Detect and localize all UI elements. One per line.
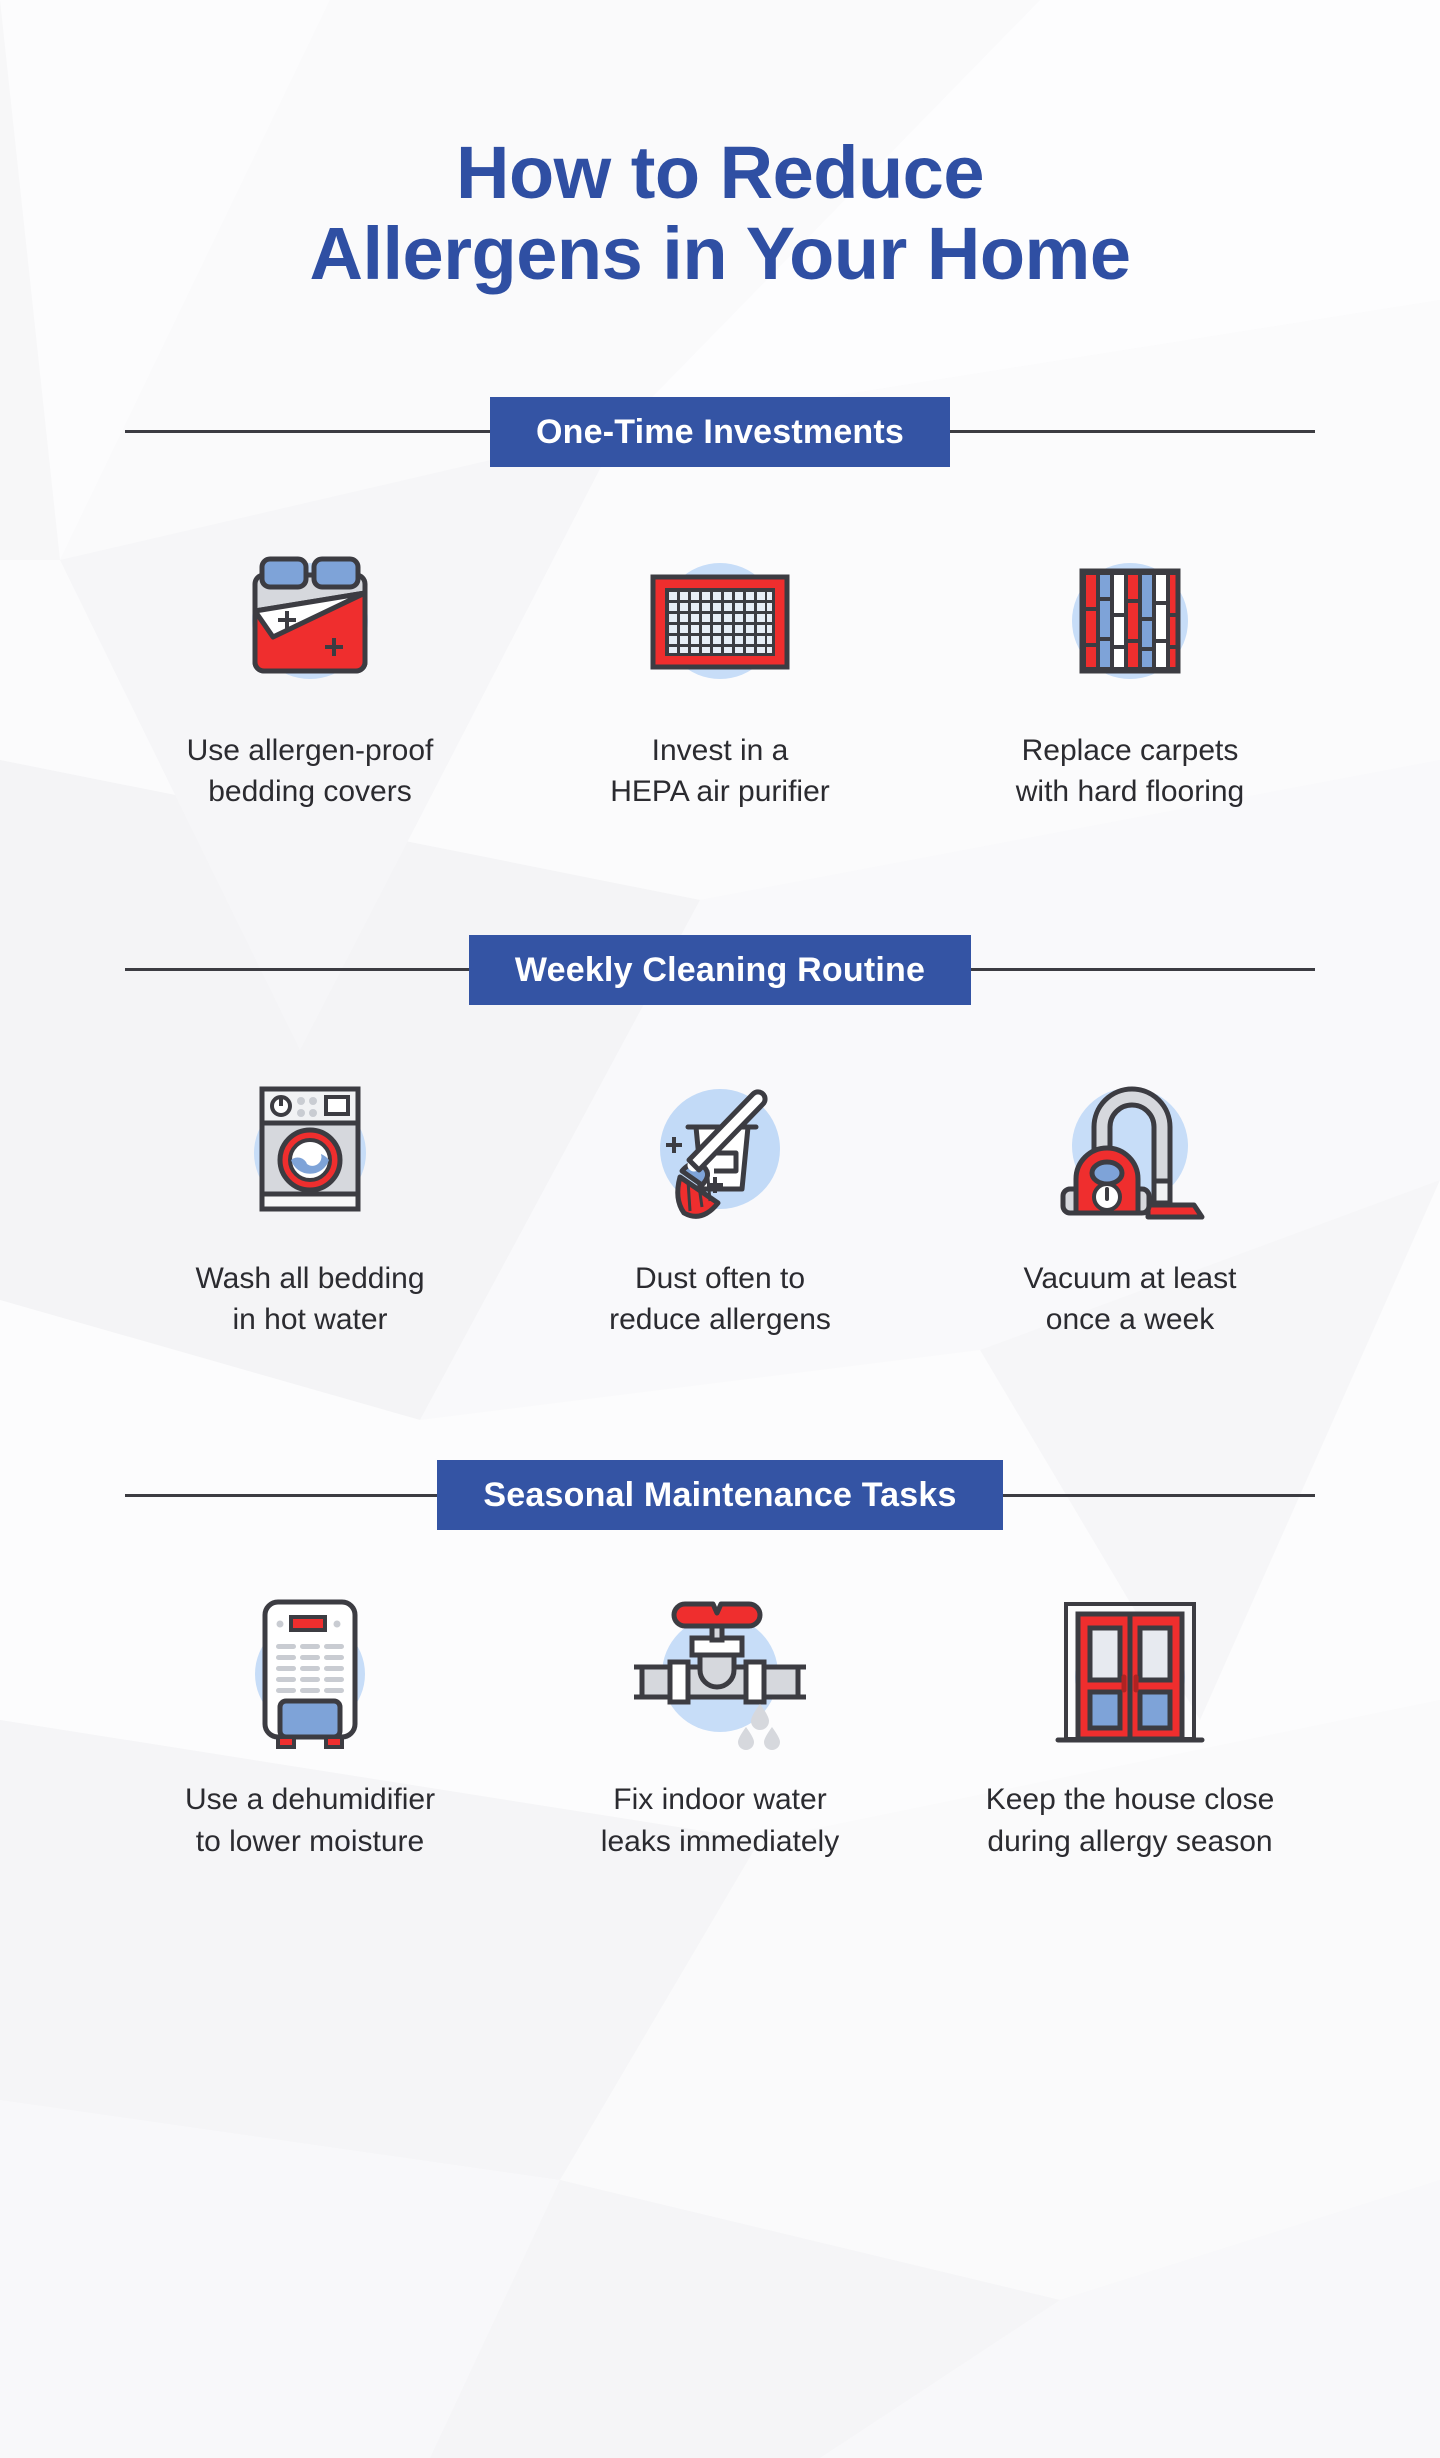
section-2-items: Wash all bedding in hot water	[105, 1061, 1335, 1341]
item-card[interactable]: Dust often to reduce allergens	[515, 1061, 925, 1341]
item-caption: Invest in a HEPA air purifier	[610, 730, 830, 813]
section-banner-label: One-Time Investments	[490, 397, 950, 467]
section-header-one-time-investments: One-Time Investments	[125, 393, 1315, 471]
divider-line-right	[950, 430, 1315, 433]
section-3-items: Use a dehumidifier to lower moisture	[105, 1582, 1335, 1862]
divider-line-right	[971, 968, 1315, 971]
item-card[interactable]: Keep the house close during allergy seas…	[925, 1582, 1335, 1862]
page-title: How to Reduce Allergens in Your Home	[0, 0, 1440, 295]
item-card[interactable]: Vacuum at least once a week	[925, 1061, 1335, 1341]
item-card[interactable]: Use allergen-proof bedding covers	[105, 533, 515, 813]
page-title-line-2: Allergens in Your Home	[0, 213, 1440, 294]
divider-line-left	[125, 1494, 437, 1497]
item-card[interactable]: Wash all bedding in hot water	[105, 1061, 515, 1341]
item-caption: Keep the house close during allergy seas…	[986, 1779, 1275, 1862]
closed-double-door-icon	[1030, 1582, 1230, 1757]
item-card[interactable]: Invest in a HEPA air purifier	[515, 533, 925, 813]
hard-flooring-planks-icon	[1030, 533, 1230, 708]
broom-dustpan-icon	[620, 1061, 820, 1236]
item-caption: Replace carpets with hard flooring	[1016, 730, 1244, 813]
divider-line-right	[1003, 1494, 1315, 1497]
section-banner-label: Seasonal Maintenance Tasks	[437, 1460, 1002, 1530]
section-banner-label: Weekly Cleaning Routine	[469, 935, 971, 1005]
section-header-weekly-cleaning-routine: Weekly Cleaning Routine	[125, 931, 1315, 1009]
page-title-line-1: How to Reduce	[0, 132, 1440, 213]
divider-line-left	[125, 430, 490, 433]
item-caption: Dust often to reduce allergens	[609, 1258, 831, 1341]
dehumidifier-icon	[210, 1582, 410, 1757]
item-card[interactable]: Use a dehumidifier to lower moisture	[105, 1582, 515, 1862]
infographic-page: How to Reduce Allergens in Your Home One…	[0, 0, 1440, 2458]
divider-line-left	[125, 968, 469, 971]
item-caption: Use allergen-proof bedding covers	[187, 730, 434, 813]
item-caption: Wash all bedding in hot water	[195, 1258, 424, 1341]
item-card[interactable]: Fix indoor water leaks immediately	[515, 1582, 925, 1862]
item-caption: Fix indoor water leaks immediately	[601, 1779, 839, 1862]
washing-machine-icon	[210, 1061, 410, 1236]
hepa-air-filter-icon	[620, 533, 820, 708]
item-caption: Vacuum at least once a week	[1024, 1258, 1237, 1341]
section-header-seasonal-maintenance-tasks: Seasonal Maintenance Tasks	[125, 1456, 1315, 1534]
item-caption: Use a dehumidifier to lower moisture	[185, 1779, 435, 1862]
vacuum-cleaner-icon	[1030, 1061, 1230, 1236]
leaking-pipe-valve-icon	[620, 1582, 820, 1757]
section-1-items: Use allergen-proof bedding covers	[105, 533, 1335, 813]
allergen-proof-bed-icon	[210, 533, 410, 708]
item-card[interactable]: Replace carpets with hard flooring	[925, 533, 1335, 813]
